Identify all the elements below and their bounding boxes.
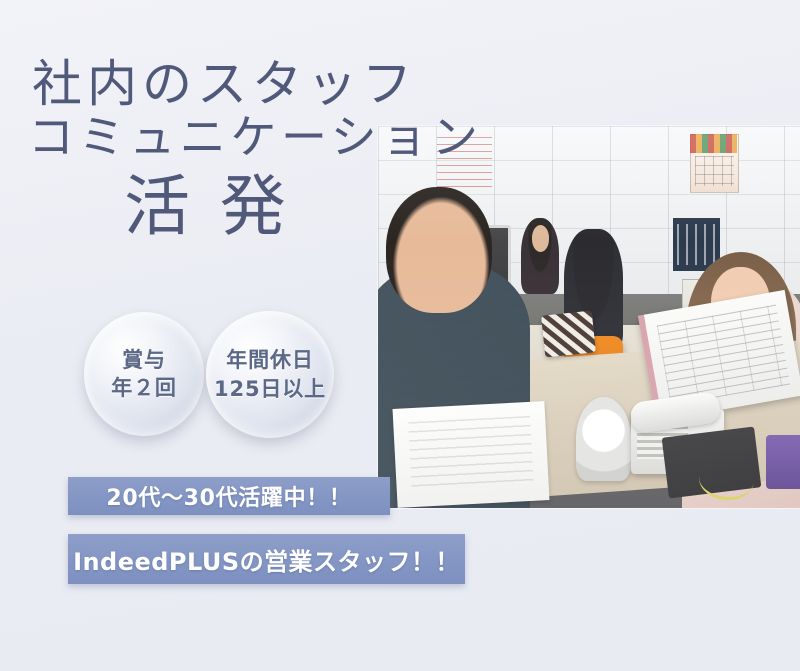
office-photo (378, 126, 800, 508)
headline-line-1: 社内のスタッフ (0, 58, 390, 111)
ribbon-job-role: IndeedPLUSの営業スタッフ！！ (68, 534, 465, 584)
ribbon-age-range-label: 20代〜30代活躍中！！ (106, 480, 351, 512)
badge-bonus: 賞与 年２回 (84, 312, 204, 436)
headline-line-2: コミュニケーション (0, 111, 390, 165)
headline-line-3: 活 発 (0, 169, 390, 247)
badge-annual-holidays: 年間休日 125日以上 (206, 311, 334, 438)
badge-bonus-label: 賞与 年２回 (111, 346, 177, 402)
ribbon-job-role-label: IndeedPLUSの営業スタッフ！！ (73, 542, 460, 577)
headline-block: 社内のスタッフ コミュニケーション 活 発 (0, 58, 390, 247)
office-photo-scene (378, 126, 800, 508)
recruitment-poster: 社内のスタッフ コミュニケーション 活 発 (0, 0, 800, 671)
photo-light-overlay (378, 126, 800, 508)
badge-annual-holidays-label: 年間休日 125日以上 (214, 346, 326, 402)
ribbon-age-range: 20代〜30代活躍中！！ (68, 477, 390, 515)
